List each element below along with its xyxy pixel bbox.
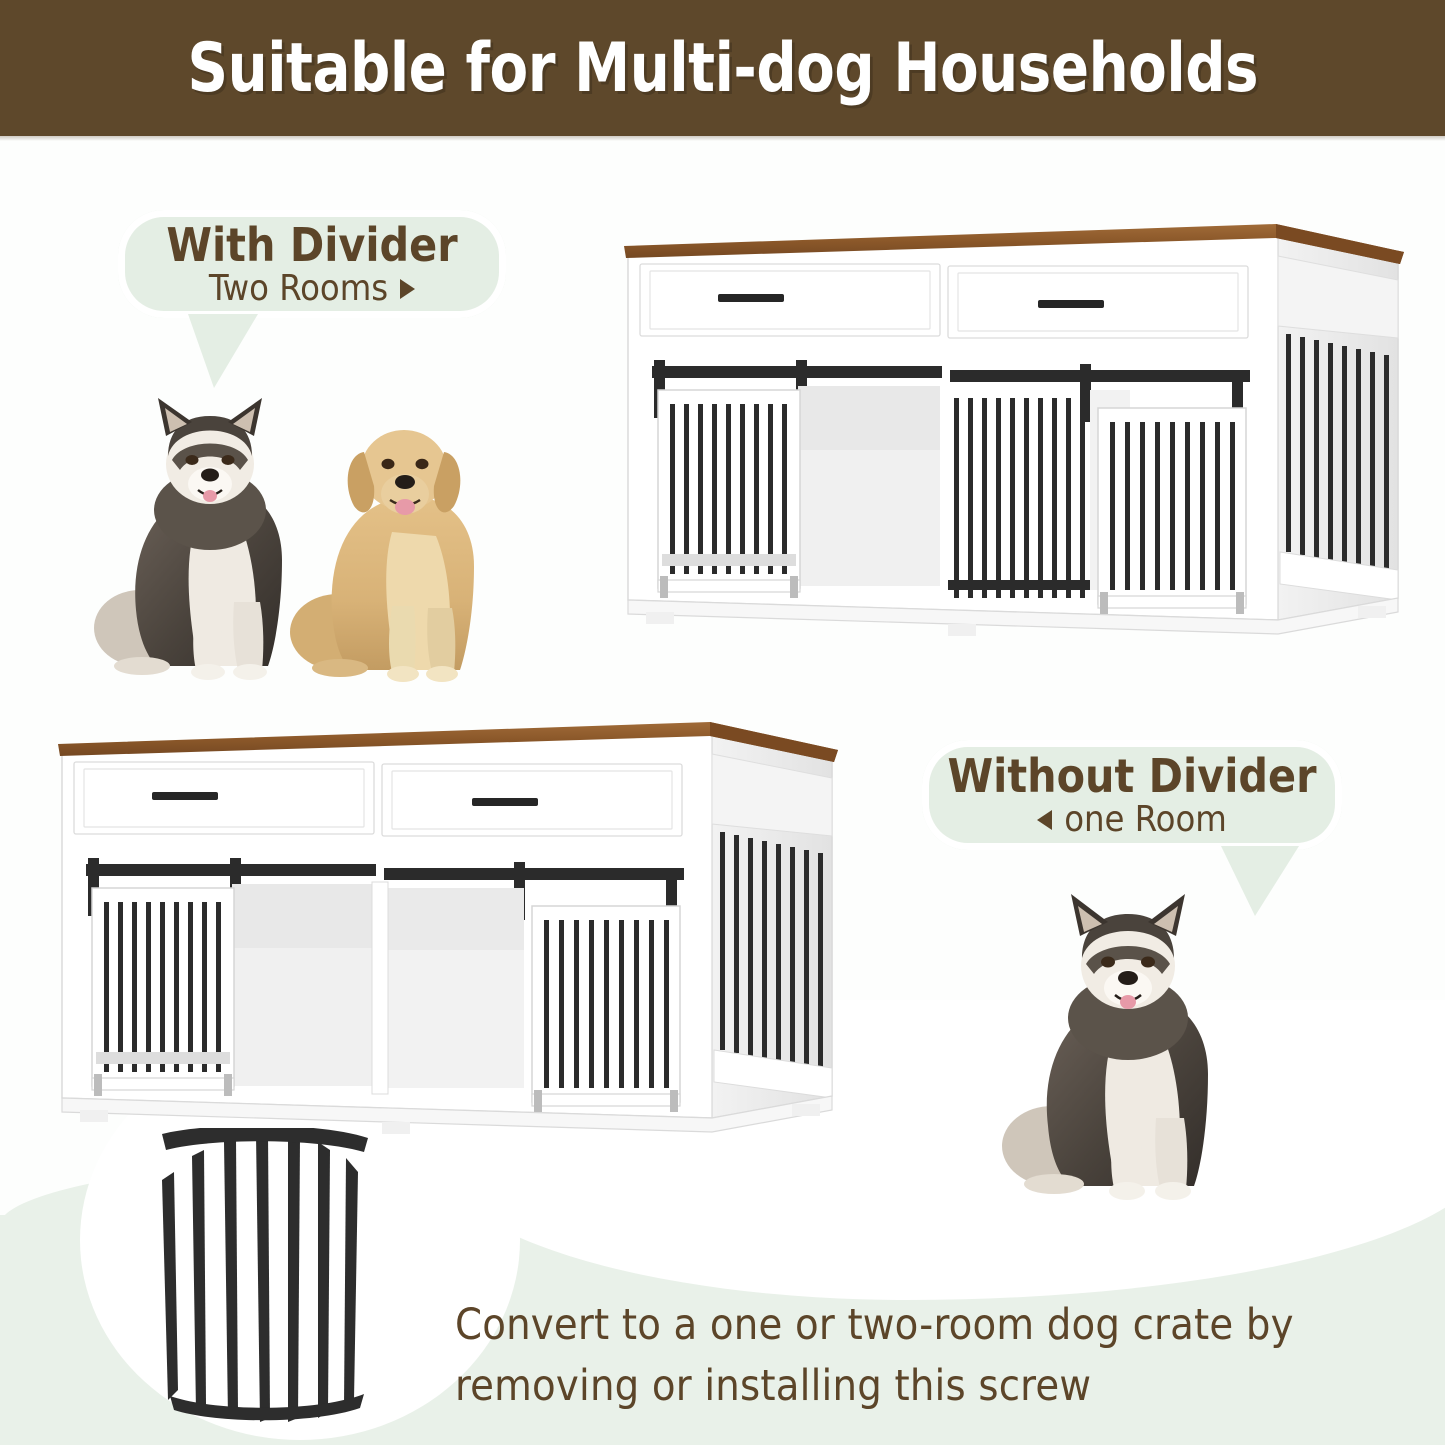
callout-with-divider-line2: Two Rooms bbox=[209, 270, 388, 308]
callout-without-divider-line2: one Room bbox=[1064, 801, 1227, 839]
center-post-no-bars bbox=[372, 882, 388, 1094]
footer-caption: Convert to a one or two-room dog crate b… bbox=[455, 1295, 1375, 1417]
chevron-left-icon bbox=[1037, 810, 1052, 830]
sliding-door-right bbox=[532, 906, 680, 1112]
dog-pair-illustration bbox=[92, 360, 512, 700]
sliding-door-left bbox=[658, 390, 800, 598]
dog-malamute-single bbox=[1002, 894, 1208, 1200]
dog-single-illustration bbox=[996, 866, 1268, 1214]
sliding-door-right bbox=[1098, 408, 1246, 614]
product-crate-with-divider bbox=[618, 208, 1408, 648]
infographic-root: Suitable for Multi-dog Households With D… bbox=[0, 0, 1445, 1445]
drawer-handle-right bbox=[1038, 300, 1104, 308]
header-banner: Suitable for Multi-dog Households bbox=[0, 0, 1445, 136]
footer-caption-line2: removing or installing this screw bbox=[455, 1356, 1375, 1417]
chevron-right-icon bbox=[400, 279, 415, 299]
drawer-handle-left bbox=[152, 792, 218, 800]
dog-malamute-pair bbox=[94, 398, 282, 680]
product-crate-without-divider bbox=[52, 706, 842, 1146]
footer-caption-line1: Convert to a one or two-room dog crate b… bbox=[455, 1295, 1375, 1356]
barn-door-rail-right bbox=[384, 868, 684, 880]
callout-with-divider: With Divider Two Rooms bbox=[118, 210, 506, 318]
page-title: Suitable for Multi-dog Households bbox=[187, 29, 1258, 108]
drawer-handle-left bbox=[718, 294, 784, 302]
dog-labrador-pair bbox=[290, 430, 474, 682]
detail-bar-group bbox=[162, 1128, 368, 1422]
barn-door-rail-right bbox=[950, 370, 1250, 382]
divider-bars-detail bbox=[150, 1128, 380, 1428]
callout-without-divider: Without Divider one Room bbox=[922, 740, 1342, 850]
sliding-door-left bbox=[92, 888, 234, 1096]
banner-shadow bbox=[0, 136, 1445, 141]
callout-without-divider-line1: Without Divider bbox=[948, 753, 1317, 800]
callout-with-divider-line1: With Divider bbox=[166, 222, 457, 269]
drawer-handle-right bbox=[472, 798, 538, 806]
